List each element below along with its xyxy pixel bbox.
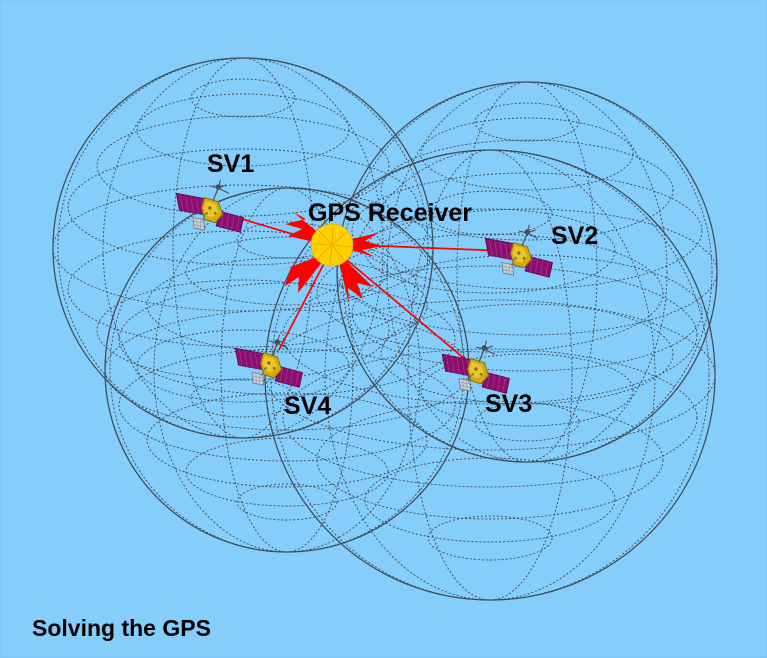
- gps-receiver-marker[interactable]: [311, 224, 353, 266]
- gps-geometry-diagram: SV1 SV2 SV3 SV4 GPS Receiver Solving the…: [0, 0, 767, 658]
- satellite-label-sv3: SV3: [485, 390, 532, 418]
- figure-caption-line-1: Solving the GPS: [32, 613, 238, 645]
- gps-receiver-label: GPS Receiver: [308, 199, 472, 227]
- satellite-label-sv1: SV1: [207, 150, 254, 178]
- satellite-label-sv4: SV4: [284, 392, 331, 420]
- satellite-label-sv2: SV2: [551, 222, 598, 250]
- figure-caption: Solving the GPS Geometry Problem: [32, 550, 238, 658]
- range-line-sv3: [336, 251, 466, 360]
